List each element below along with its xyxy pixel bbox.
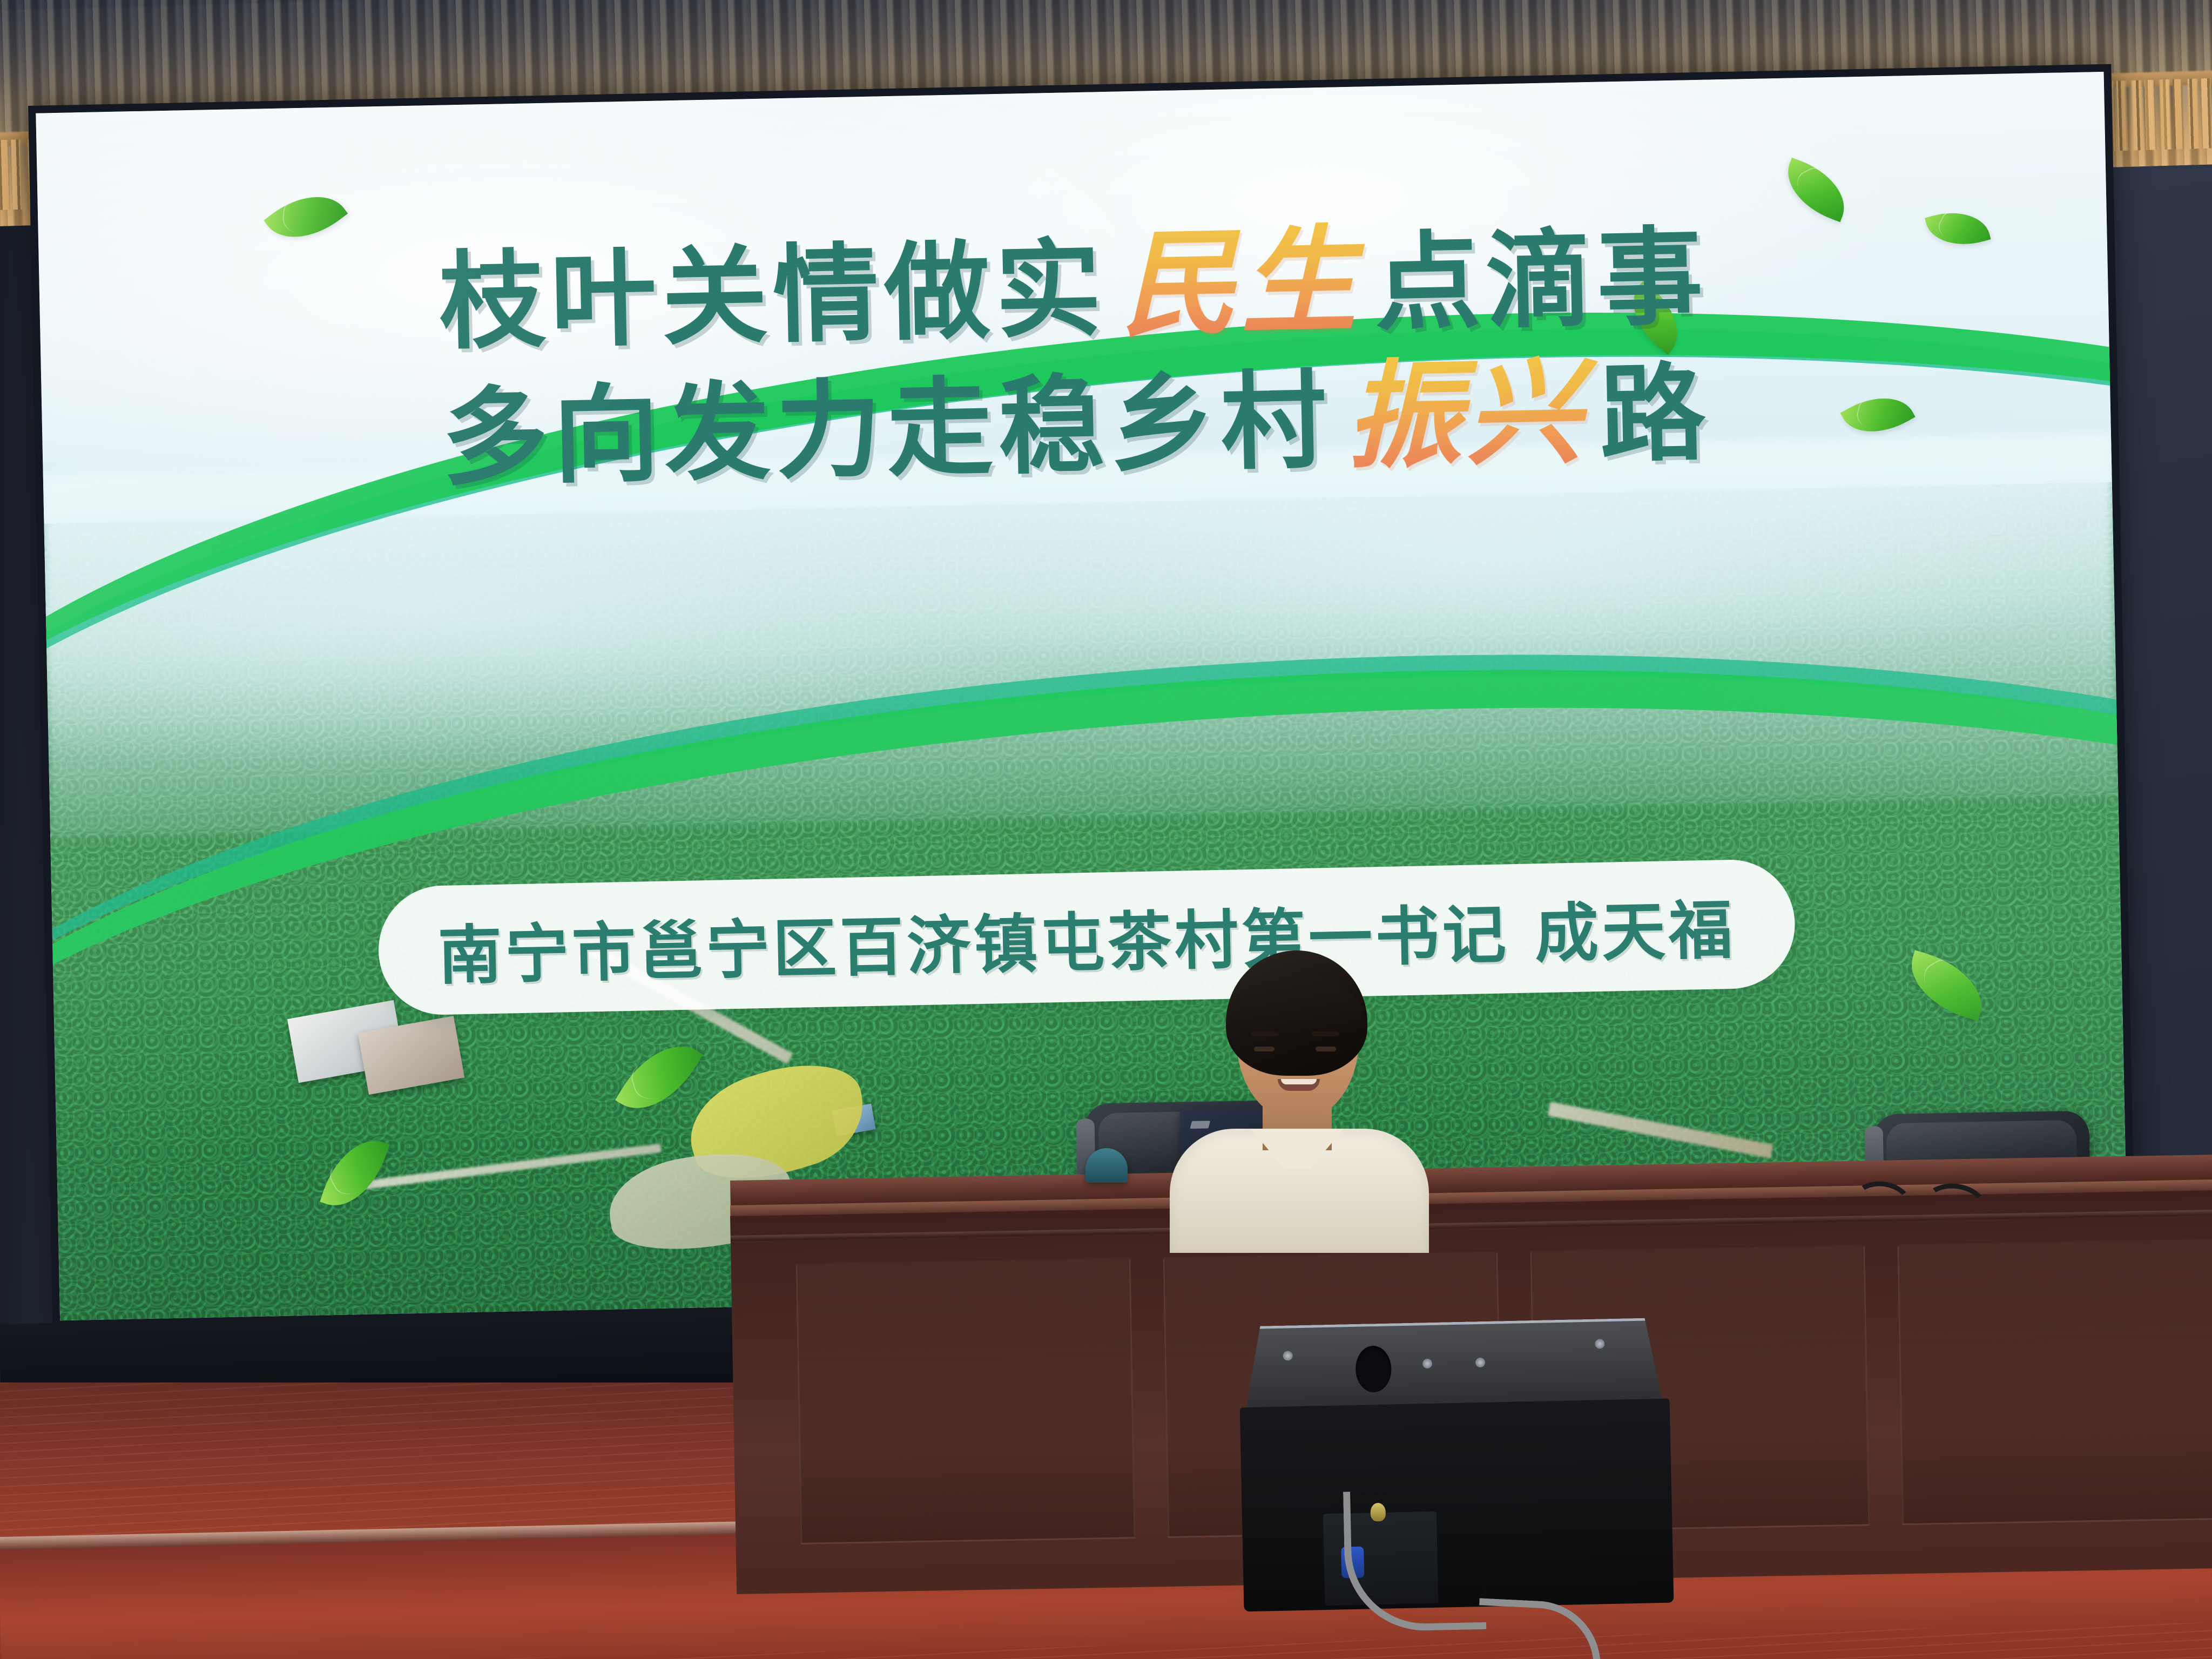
podium-panel-1 <box>796 1258 1136 1545</box>
speaker-person <box>1150 950 1453 1231</box>
stage-monitor-speaker <box>1234 1318 1677 1613</box>
slide-title-block: 枝叶关情做实民生点滴事 多向发力走稳乡村振兴路 <box>38 207 2112 521</box>
speaker-screw-3 <box>1475 1358 1485 1367</box>
podium-panel-4 <box>1897 1238 2212 1525</box>
speaker-screw-4 <box>1595 1339 1604 1348</box>
speaker-screw-1 <box>1283 1351 1293 1360</box>
title-line1-plain-a: 枝叶关情做实 <box>438 227 1108 365</box>
laptop-logo-icon <box>1190 1121 1210 1129</box>
speaker-eye-right <box>1316 1047 1336 1051</box>
title-line2-plain-a: 多向发力走稳乡村 <box>441 359 1333 501</box>
speaker-top-plate <box>1244 1318 1663 1413</box>
title-line2-plain-b: 路 <box>1599 351 1712 477</box>
slide-subtitle-text: 南宁市邕宁区百济镇屯茶村第一书记 成天福 <box>437 892 1736 993</box>
speaker-screw-2 <box>1422 1359 1432 1368</box>
speaker-eyebrow-left <box>1251 1031 1279 1036</box>
speaker-handle-cutout <box>1355 1345 1392 1392</box>
speaker-eye-left <box>1254 1047 1274 1051</box>
speaker-mouth <box>1278 1079 1320 1091</box>
speaker-eyebrow-right <box>1311 1031 1339 1036</box>
title-line2-brush-zhenxing: 振兴 <box>1331 344 1601 485</box>
stage-scene: 枝叶关情做实民生点滴事 多向发力走稳乡村振兴路 南宁市邕宁区百济镇屯茶村第一书记… <box>0 0 2212 1659</box>
title-line1-brush-minsheng: 民生 <box>1105 212 1376 353</box>
slide-title-line-2: 多向发力走稳乡村振兴路 <box>41 343 2112 502</box>
title-line1-plain-b: 点滴事 <box>1373 215 1710 346</box>
